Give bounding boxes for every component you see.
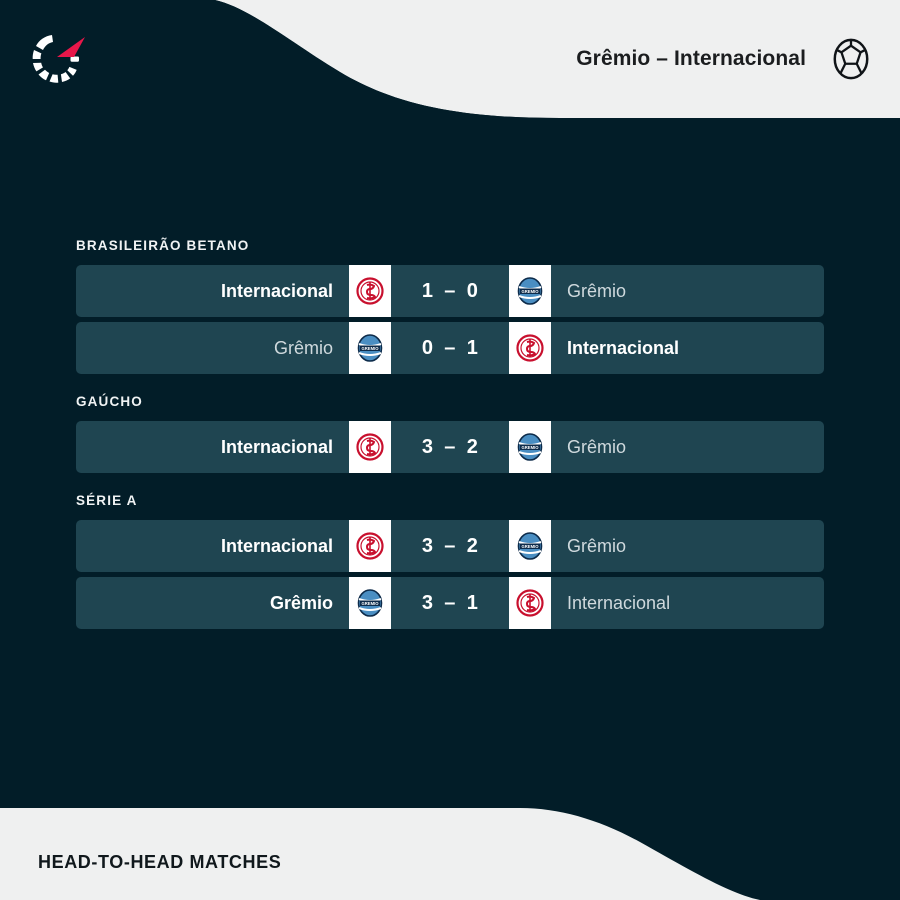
internacional-crest (349, 265, 391, 317)
match-row[interactable]: Internacional 3 – 2 GREMIO (76, 520, 824, 572)
home-team-name: Grêmio (76, 322, 349, 374)
svg-text:GREMIO: GREMIO (522, 289, 540, 294)
gremio-crest: GREMIO (509, 265, 551, 317)
svg-text:GREMIO: GREMIO (522, 445, 540, 450)
head-to-head-panel: Brasileirão Betano Internacional 1 – 0 (0, 118, 900, 810)
score-separator: – (444, 436, 455, 459)
match-score: 0 – 1 (391, 322, 509, 374)
match-row[interactable]: Internacional 1 – 0 GREMIO (76, 265, 824, 317)
away-score: 0 (467, 280, 478, 303)
gremio-crest: GREMIO (349, 577, 391, 629)
score-separator: – (444, 592, 455, 615)
footer-bar: HEAD-TO-HEAD MATCHES (0, 808, 900, 900)
away-team-name: Internacional (551, 577, 824, 629)
home-score: 3 (422, 436, 433, 459)
home-score: 0 (422, 337, 433, 360)
gremio-crest: GREMIO (509, 520, 551, 572)
score-separator: – (444, 280, 455, 303)
flashscore-logo[interactable] (28, 27, 90, 89)
match-score: 3 – 1 (391, 577, 509, 629)
internacional-crest (509, 577, 551, 629)
internacional-crest (509, 322, 551, 374)
internacional-crest (349, 520, 391, 572)
home-team-name: Internacional (76, 520, 349, 572)
score-separator: – (444, 337, 455, 360)
match-score: 1 – 0 (391, 265, 509, 317)
home-team-name: Internacional (76, 265, 349, 317)
competition-title: Brasileirão Betano (76, 238, 824, 253)
gremio-crest: GREMIO (349, 322, 391, 374)
home-score: 3 (422, 535, 433, 558)
home-team-name: Internacional (76, 421, 349, 473)
home-team-name: Grêmio (76, 577, 349, 629)
away-team-name: Grêmio (551, 265, 824, 317)
match-score: 3 – 2 (391, 421, 509, 473)
page-title: Grêmio – Internacional (576, 47, 806, 71)
home-score: 1 (422, 280, 433, 303)
away-score: 1 (467, 337, 478, 360)
competition-section: Brasileirão Betano Internacional 1 – 0 (76, 238, 824, 374)
header-bar: Grêmio – Internacional (0, 0, 900, 118)
match-row[interactable]: Internacional 3 – 2 GREMIO (76, 421, 824, 473)
away-score: 2 (467, 535, 478, 558)
away-score: 1 (467, 592, 478, 615)
match-row[interactable]: Grêmio GREMIO 3 – 1 (76, 577, 824, 629)
soccer-ball-icon (830, 38, 872, 80)
competition-section: Gaúcho Internacional 3 – 2 (76, 394, 824, 473)
match-row[interactable]: Grêmio GREMIO 0 – 1 (76, 322, 824, 374)
match-score: 3 – 2 (391, 520, 509, 572)
away-team-name: Internacional (551, 322, 824, 374)
gremio-crest: GREMIO (509, 421, 551, 473)
home-score: 3 (422, 592, 433, 615)
svg-text:GREMIO: GREMIO (362, 601, 380, 606)
away-score: 2 (467, 436, 478, 459)
footer-title: HEAD-TO-HEAD MATCHES (38, 852, 281, 873)
competition-section: Série A Internacional 3 – 2 (76, 493, 824, 629)
svg-text:GREMIO: GREMIO (362, 346, 380, 351)
svg-text:GREMIO: GREMIO (522, 544, 540, 549)
competition-title: Série A (76, 493, 824, 508)
away-team-name: Grêmio (551, 520, 824, 572)
score-separator: – (444, 535, 455, 558)
internacional-crest (349, 421, 391, 473)
competition-title: Gaúcho (76, 394, 824, 409)
away-team-name: Grêmio (551, 421, 824, 473)
